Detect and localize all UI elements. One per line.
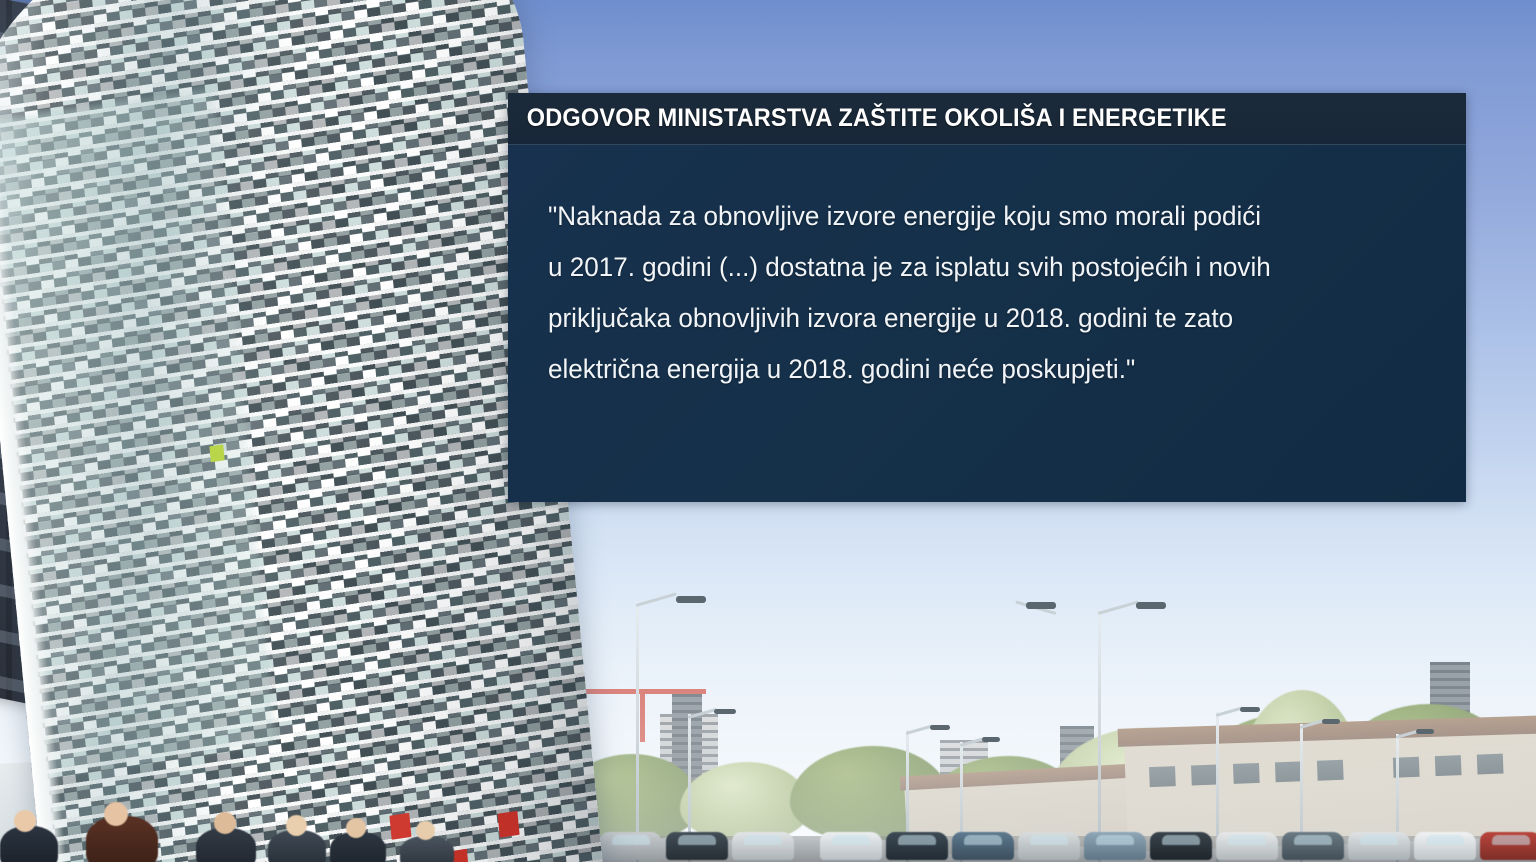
quote-line-1: "Naknada za obnovljive izvore energije k… bbox=[548, 191, 1393, 242]
panel-title: ODGOVOR MINISTARSTVA ZAŠTITE OKOLIŠA I E… bbox=[508, 104, 1227, 133]
quote-line-4: električna energija u 2018. godini neće … bbox=[548, 344, 1393, 395]
quote-line-3: priključaka obnovljivih izvora energije … bbox=[548, 293, 1393, 344]
crowd-foreground bbox=[0, 802, 480, 862]
screenshot-root: ODGOVOR MINISTARSTVA ZAŠTITE OKOLIŠA I E… bbox=[0, 0, 1536, 862]
panel-body: "Naknada za obnovljive izvore energije k… bbox=[508, 145, 1466, 502]
panel-header: ODGOVOR MINISTARSTVA ZAŠTITE OKOLIŠA I E… bbox=[508, 93, 1466, 145]
quote-line-2: u 2017. godini (...) dostatna je za ispl… bbox=[548, 242, 1393, 293]
quote-overlay-panel: ODGOVOR MINISTARSTVA ZAŠTITE OKOLIŠA I E… bbox=[508, 93, 1466, 502]
